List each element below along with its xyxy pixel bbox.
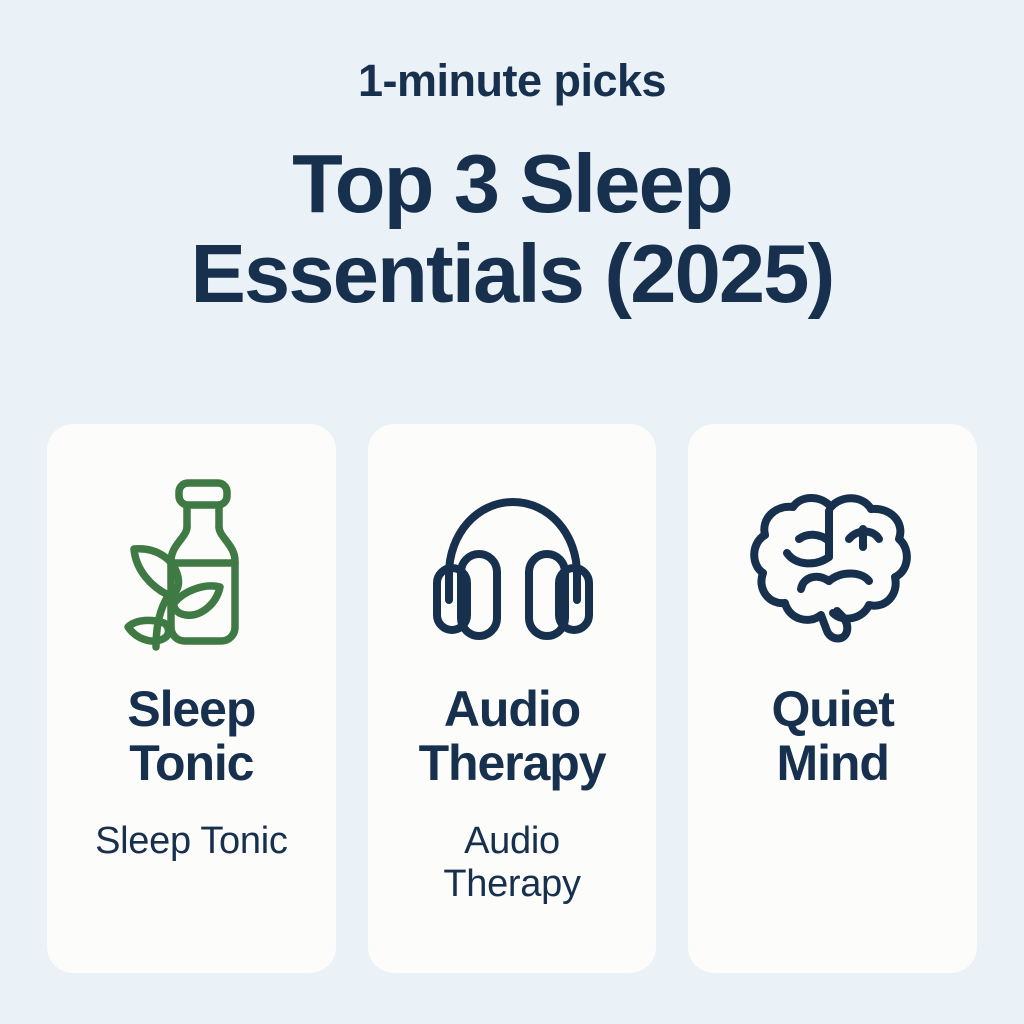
poster-canvas: 1-minute picks Top 3 Sleep Essentials (2… — [0, 0, 1024, 1024]
card-sleep-tonic[interactable]: Sleep Tonic Sleep Tonic — [47, 424, 336, 973]
headline-line-2: Essentials (2025) — [60, 229, 964, 319]
poster-header: 1-minute picks Top 3 Sleep Essentials (2… — [0, 0, 1024, 318]
brain-icon — [745, 470, 920, 660]
card-title: Audio Therapy — [392, 682, 632, 790]
card-caption: Audio Therapy — [397, 820, 627, 906]
headline-line-1: Top 3 Sleep — [60, 139, 964, 229]
card-quiet-mind[interactable]: Quiet Mind — [688, 424, 977, 973]
card-audio-therapy[interactable]: Audio Therapy Audio Therapy — [368, 424, 657, 973]
eyebrow-text: 1-minute picks — [0, 58, 1024, 103]
card-caption: Sleep Tonic — [95, 820, 287, 863]
headphones-icon — [425, 470, 600, 660]
card-title: Sleep Tonic — [71, 682, 311, 790]
page-title: Top 3 Sleep Essentials (2025) — [0, 139, 1024, 318]
bottle-with-leaves-icon — [116, 470, 266, 660]
card-row: Sleep Tonic Sleep Tonic Audio — [47, 424, 977, 973]
card-title: Quiet Mind — [713, 682, 953, 790]
